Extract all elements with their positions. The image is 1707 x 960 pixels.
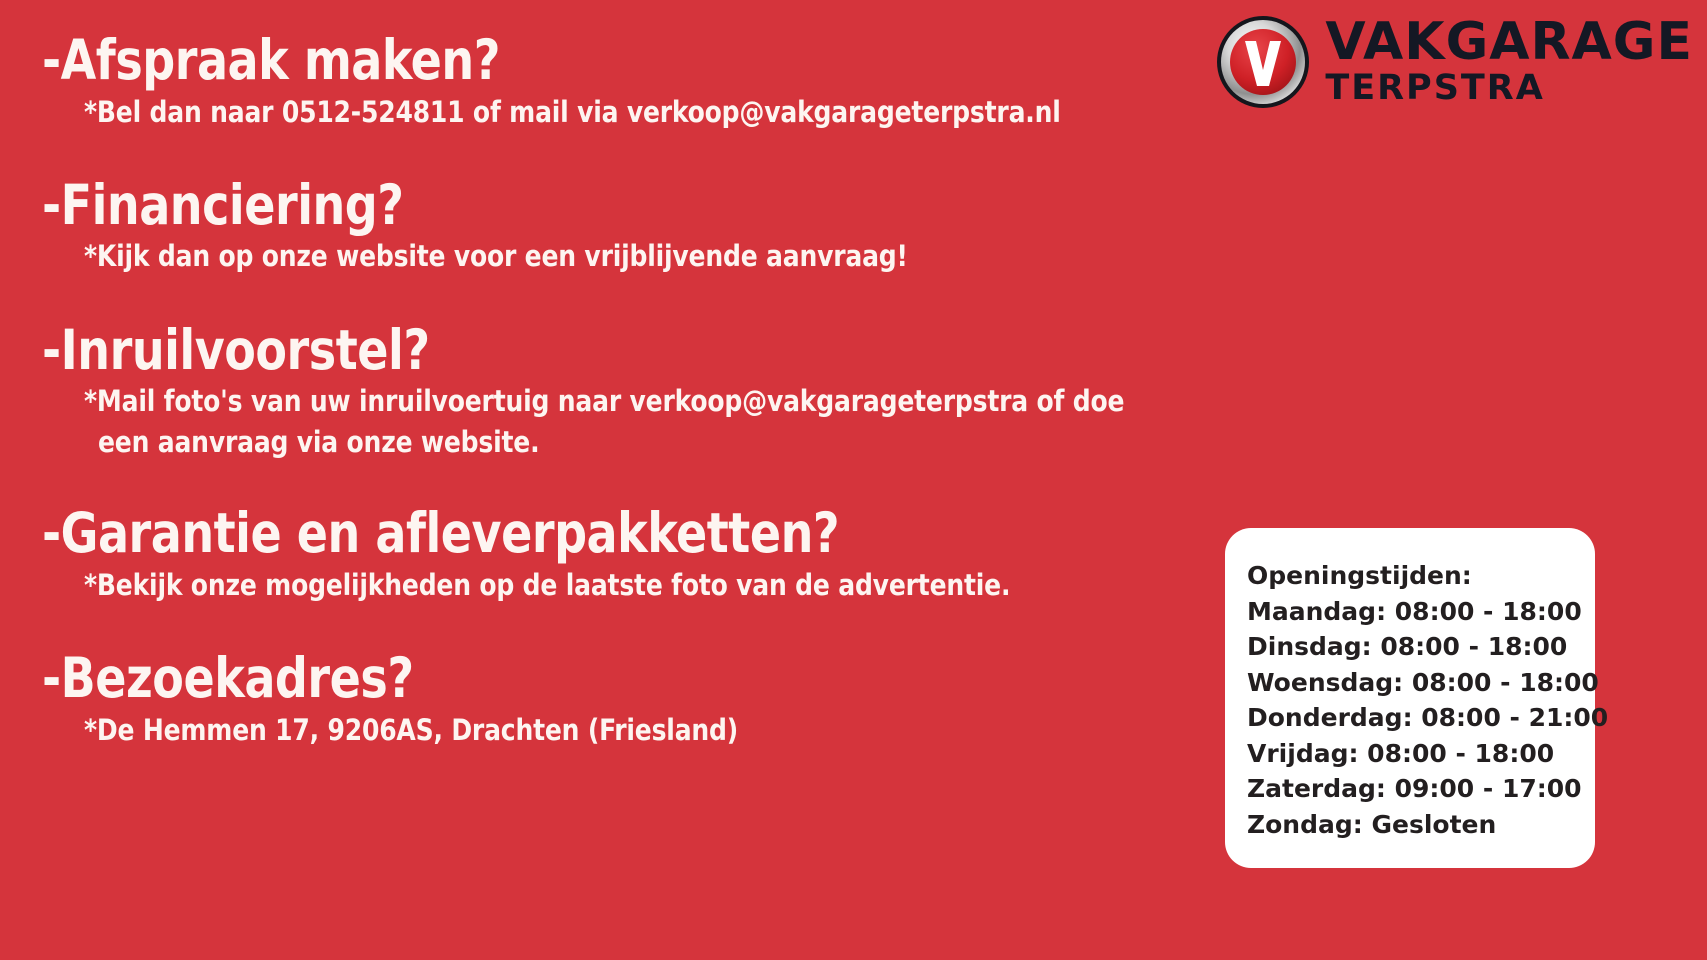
section-heading: -Financiering?	[42, 175, 1260, 237]
section-line-continued: een aanvraag via onze website.	[98, 422, 1302, 463]
section-line: *Mail foto's van uw inruilvoertuig naar …	[84, 381, 1301, 422]
logo-sub-brand-name: TERPSTRA	[1325, 70, 1545, 107]
opening-hours-row-dinsdag: Dinsdag: 08:00 - 18:00	[1247, 629, 1595, 665]
opening-hours-row-vrijdag: Vrijdag: 08:00 - 18:00	[1247, 736, 1595, 772]
logo-wordmark: VAKGARAGE TERPSTRA	[1325, 17, 1693, 107]
opening-hours-row-zondag: Zondag: Gesloten	[1247, 807, 1595, 843]
section-line: *Kijk dan op onze website voor een vrijb…	[84, 236, 1301, 277]
section-heading: -Inruilvoorstel?	[42, 320, 1260, 382]
section-bezoekadres: -Bezoekadres? *De Hemmen 17, 9206AS, Dra…	[42, 648, 1352, 751]
section-garantie: -Garantie en afleverpakketten? *Bekijk o…	[42, 503, 1352, 606]
section-heading: -Afspraak maken?	[42, 30, 1260, 92]
section-line: *Bekijk onze mogelijkheden op de laatste…	[84, 565, 1301, 606]
section-financiering: -Financiering? *Kijk dan op onze website…	[42, 175, 1352, 278]
section-afspraak: -Afspraak maken? *Bel dan naar 0512-5248…	[42, 30, 1352, 133]
content-column: -Afspraak maken? *Bel dan naar 0512-5248…	[42, 30, 1352, 757]
opening-hours-row-donderdag: Donderdag: 08:00 - 21:00	[1247, 700, 1595, 736]
section-line: *Bel dan naar 0512-524811 of mail via ve…	[84, 92, 1301, 133]
opening-hours-row-maandag: Maandag: 08:00 - 18:00	[1247, 594, 1595, 630]
opening-hours-row-zaterdag: Zaterdag: 09:00 - 17:00	[1247, 771, 1595, 807]
section-heading: -Bezoekadres?	[42, 648, 1260, 710]
opening-hours-card: Openingstijden: Maandag: 08:00 - 18:00 D…	[1225, 528, 1595, 868]
logo-brand-name: VAKGARAGE	[1325, 17, 1693, 68]
opening-hours-list: Openingstijden: Maandag: 08:00 - 18:00 D…	[1237, 558, 1595, 842]
section-inruilvoorstel: -Inruilvoorstel? *Mail foto's van uw inr…	[42, 320, 1352, 464]
opening-hours-title: Openingstijden:	[1247, 558, 1595, 594]
promo-poster: VAKGARAGE TERPSTRA -Afspraak maken? *Bel…	[0, 0, 1707, 960]
section-line: *De Hemmen 17, 9206AS, Drachten (Friesla…	[84, 710, 1301, 751]
section-heading: -Garantie en afleverpakketten?	[42, 503, 1260, 565]
opening-hours-row-woensdag: Woensdag: 08:00 - 18:00	[1247, 665, 1595, 701]
